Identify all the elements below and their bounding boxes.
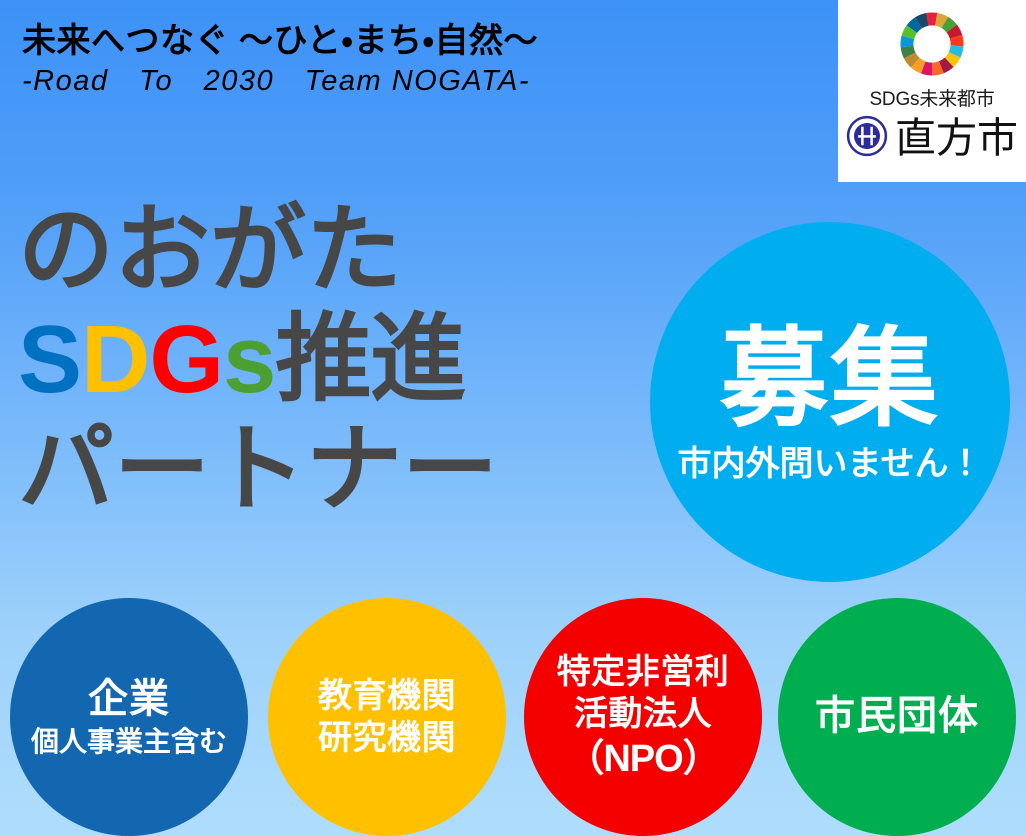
category-circle-corporate: 企業 個人事業主含む [10,598,248,836]
header-tagline: 未来へつなぐ ～ひと・まち・自然～ [22,22,682,61]
logo-box: SDGs未来都市 直方市 [838,0,1026,182]
title-line-2: SDGs推進 [18,305,658,414]
sdgs-letter-g: G [149,306,223,413]
category-line: 活動法人 [574,693,712,736]
category-row: 企業 個人事業主含む 教育機関 研究機関 特定非営利 活動法人 （NPO） 市民… [0,598,1026,836]
nogata-city-emblem-icon [846,115,888,162]
city-name: 直方市 [895,118,1018,159]
sdgs-letter-s2: s [223,306,275,413]
category-name: 企業 [88,676,170,723]
city-row: 直方市 [846,115,1018,162]
category-line: 研究機関 [318,717,456,760]
title-line-2-rest: 推進 [275,306,465,413]
poster-root: 未来へつなぐ ～ひと・まち・自然～ -Road To 2030 Team NOG… [0,0,1026,836]
recruit-headline: 募集 [720,324,940,434]
title-line-3: パートナー [18,415,658,524]
title-line-1: のおがた [18,196,658,305]
category-circle-npo: 特定非営利 活動法人 （NPO） [524,598,762,836]
category-subtext: 個人事業主含む [31,725,227,759]
recruit-badge: 募集 市内外問いません！ [650,222,1010,582]
category-line: 市民団体 [815,693,979,740]
sdgs-letter-d: D [81,306,149,413]
category-line: 教育機関 [318,675,456,718]
category-circle-citizen-group: 市民団体 [778,598,1016,836]
sdgs-letter-s1: S [18,306,81,413]
header-block: 未来へつなぐ ～ひと・まち・自然～ -Road To 2030 Team NOG… [22,22,682,98]
category-line: 特定非営利 [557,651,730,694]
logo-caption: SDGs未来都市 [869,84,994,111]
category-line: （NPO） [566,736,719,784]
main-title: のおがた SDGs推進 パートナー [18,196,658,524]
recruit-note: 市内外問いません！ [678,446,983,483]
sdgs-color-wheel-icon [894,6,970,82]
category-circle-education: 教育機関 研究機関 [268,598,506,836]
header-subtitle: -Road To 2030 Team NOGATA- [22,65,682,98]
